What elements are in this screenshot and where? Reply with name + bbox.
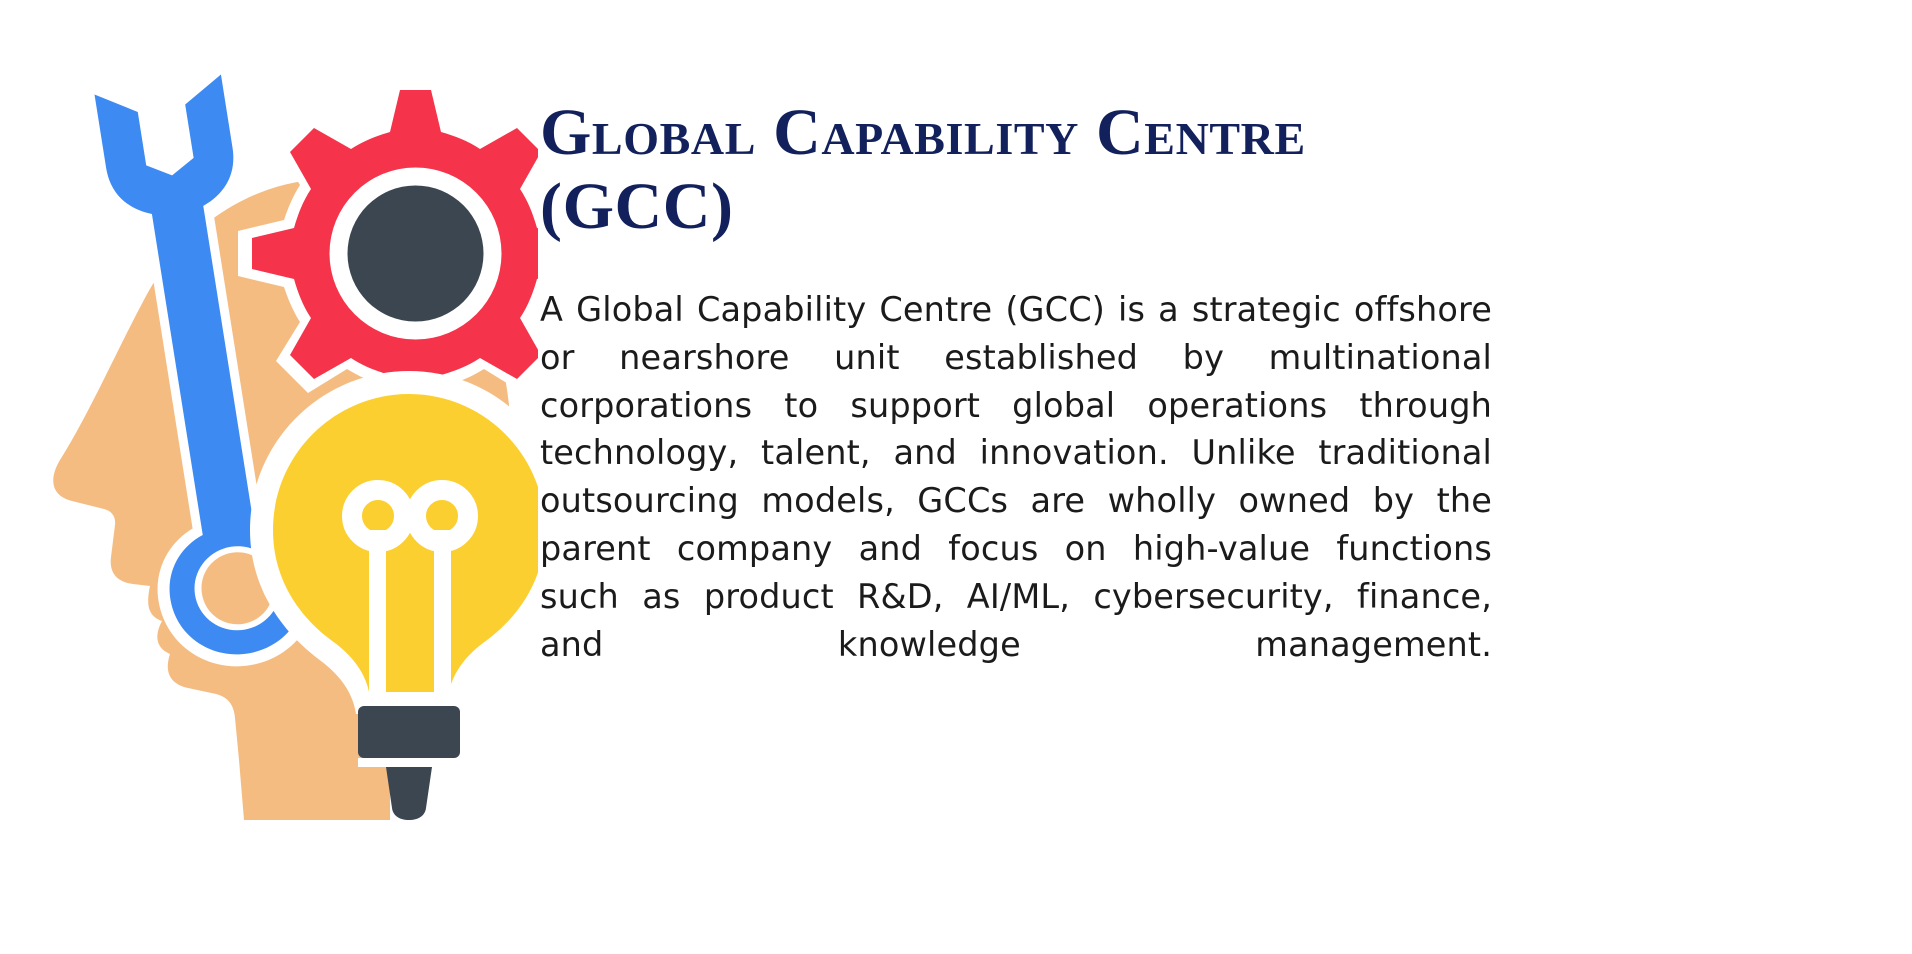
gcc-illustration [38, 60, 538, 820]
page-title: Global Capability Centre (GCC) [540, 96, 1492, 244]
description-paragraph: A Global Capability Centre (GCC) is a st… [540, 244, 1492, 717]
text-column: Global Capability Centre (GCC) A Global … [540, 96, 1492, 717]
gcc-info-card: Global Capability Centre (GCC) A Global … [0, 0, 1912, 954]
